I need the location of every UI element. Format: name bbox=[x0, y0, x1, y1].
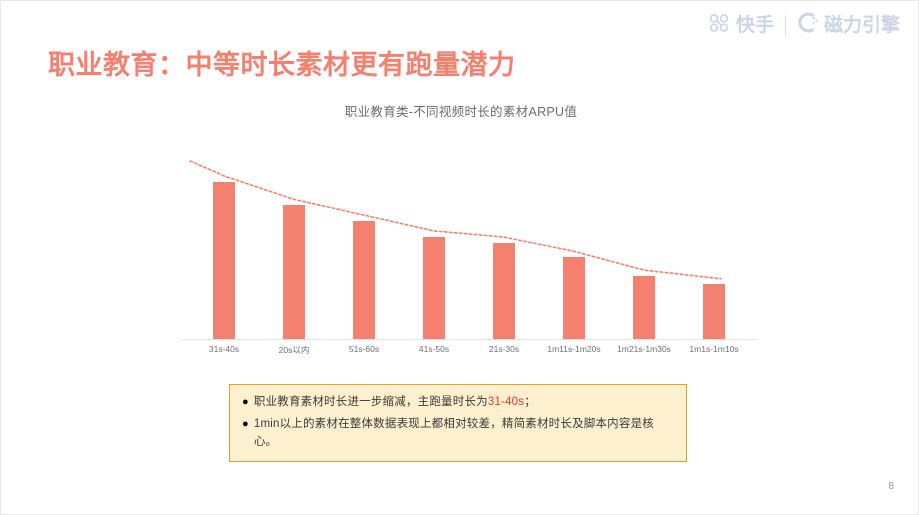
chart-bar-slot bbox=[609, 163, 679, 339]
chart-bar[interactable] bbox=[703, 284, 725, 339]
kuaishou-logo: 快手 bbox=[707, 13, 774, 38]
bullet-text-pre: 职业教育素材时长进一步缩减，主跑量时长为 bbox=[254, 396, 488, 408]
chart-x-axis-line bbox=[181, 339, 757, 340]
insight-callout-box: ● 职业教育素材时长进一步缩减，主跑量时长为31-40s； ● 1min以上的素… bbox=[229, 384, 687, 462]
magnetic-engine-label: 磁力引擎 bbox=[824, 16, 900, 35]
chart-bar[interactable] bbox=[213, 182, 235, 339]
chart-bar[interactable] bbox=[563, 257, 585, 339]
chart-x-label: 1m1s-1m10s bbox=[669, 344, 759, 354]
list-item: ● 1min以上的素材在整体数据表现上都相对较差，精简素材时长及脚本内容是核心。 bbox=[242, 416, 674, 452]
chart-container: 职业教育类-不同视频时长的素材ARPU值 31s-40s20s以内51s-60s… bbox=[151, 101, 771, 363]
chart-bar-slot bbox=[399, 163, 469, 339]
bars-layer bbox=[189, 163, 749, 339]
chart-bar[interactable] bbox=[283, 205, 305, 339]
chart-bar-slot bbox=[189, 163, 259, 339]
brand-bar: 快手 磁力引擎 bbox=[707, 10, 900, 40]
magnetic-engine-logo: 磁力引擎 bbox=[797, 12, 900, 38]
magnetic-engine-c-icon bbox=[797, 12, 819, 38]
page-number: 8 bbox=[888, 481, 894, 492]
bullet-dot-icon: ● bbox=[242, 416, 249, 433]
chart-plot-area bbox=[189, 163, 749, 339]
kuaishou-label: 快手 bbox=[736, 16, 774, 35]
chart-bar[interactable] bbox=[493, 243, 515, 339]
bullet-dot-icon: ● bbox=[242, 394, 249, 411]
chart-bar-slot bbox=[539, 163, 609, 339]
bullet-text-pre: 1min以上的素材在整体数据表现上都相对较差，精简素材时长及脚本内容是核心。 bbox=[254, 418, 654, 448]
chart-bar-slot bbox=[329, 163, 399, 339]
chart-bar[interactable] bbox=[353, 221, 375, 339]
slide-canvas: 快手 磁力引擎 职业教育：中等时长素材更有跑量潜力 职业教育类-不同视频时长的素… bbox=[0, 0, 919, 515]
bullet-text: 职业教育素材时长进一步缩减，主跑量时长为31-40s； bbox=[254, 394, 536, 412]
brand-divider bbox=[785, 15, 786, 36]
chart-bar[interactable] bbox=[633, 276, 655, 339]
chart-bar[interactable] bbox=[423, 237, 445, 339]
chart-title: 职业教育类-不同视频时长的素材ARPU值 bbox=[151, 101, 771, 120]
bullet-text: 1min以上的素材在整体数据表现上都相对较差，精简素材时长及脚本内容是核心。 bbox=[254, 416, 674, 452]
chart-x-axis-labels: 31s-40s20s以内51s-60s41s-50s21s-30s1m11s-1… bbox=[189, 344, 749, 362]
bullet-accent-value: 31-40s bbox=[488, 396, 524, 408]
chart-bar-slot bbox=[259, 163, 329, 339]
chart-bar-slot bbox=[679, 163, 749, 339]
list-item: ● 职业教育素材时长进一步缩减，主跑量时长为31-40s； bbox=[242, 394, 674, 412]
chart-bar-slot bbox=[469, 163, 539, 339]
page-title: 职业教育：中等时长素材更有跑量潜力 bbox=[48, 43, 516, 82]
kuaishou-camera-icon bbox=[707, 13, 731, 38]
bullet-text-post: ； bbox=[524, 396, 536, 408]
